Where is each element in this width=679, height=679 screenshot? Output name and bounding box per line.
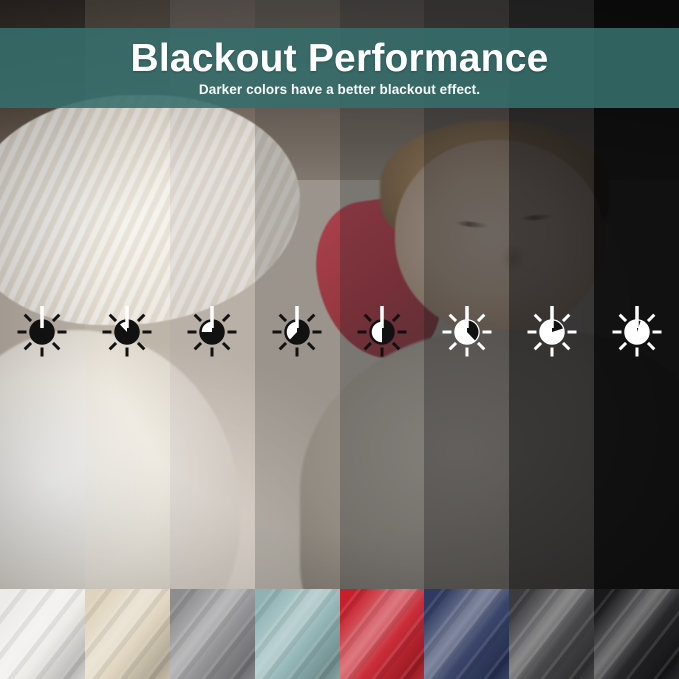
fabric-swatch-row (0, 589, 679, 679)
blackout-performance-poster: Blackout Performance Darker colors have … (0, 0, 679, 679)
brightness-icon-7 (509, 288, 594, 376)
brightness-icon-6 (424, 288, 509, 376)
swatch-fold-texture (85, 589, 170, 679)
swatch-fold-texture (594, 589, 679, 679)
swatch-sage-blue (255, 589, 340, 679)
swatch-fold-texture (170, 589, 255, 679)
brightness-icon-5 (340, 288, 425, 376)
brightness-icon-4 (255, 288, 340, 376)
swatch-fold-texture (340, 589, 425, 679)
brightness-icon-2 (85, 288, 170, 376)
page-title: Blackout Performance (131, 39, 549, 80)
brightness-icon-3 (170, 288, 255, 376)
swatch-fold-texture (509, 589, 594, 679)
swatch-fold-texture (255, 589, 340, 679)
brightness-icon-8 (594, 288, 679, 376)
swatch-fold-texture (424, 589, 509, 679)
swatch-white (0, 589, 85, 679)
brightness-icon-1 (0, 288, 85, 376)
swatch-beige (85, 589, 170, 679)
header-band: Blackout Performance Darker colors have … (0, 28, 679, 108)
page-subtitle: Darker colors have a better blackout eff… (199, 82, 480, 97)
swatch-dark-grey (509, 589, 594, 679)
swatch-grey (170, 589, 255, 679)
swatch-red (340, 589, 425, 679)
brightness-icon-row (0, 288, 679, 376)
swatch-fold-texture (0, 589, 85, 679)
swatch-black (594, 589, 679, 679)
swatch-navy (424, 589, 509, 679)
